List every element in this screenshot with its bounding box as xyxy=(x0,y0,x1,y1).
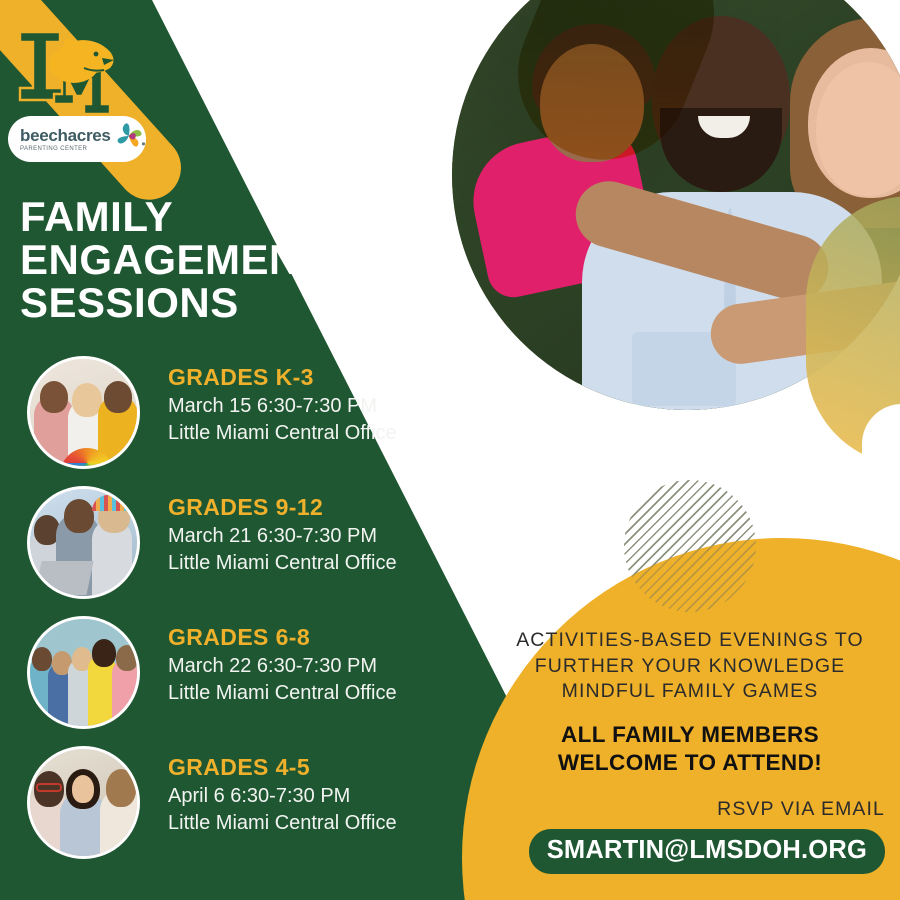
panel-cta-line-2: WELCOME TO ATTEND! xyxy=(558,750,822,775)
session-location: Little Miami Central Office xyxy=(168,682,397,705)
avatar-grades-k-3 xyxy=(27,356,140,469)
rsvp-label: RSVP VIA EMAIL xyxy=(495,798,885,821)
beech-acres-word1: beech xyxy=(20,126,68,145)
session-text: GRADES 9-12 March 21 6:30-7:30 PM Little… xyxy=(168,494,397,575)
sessions-list: GRADES K-3 March 15 6:30-7:30 PM Little … xyxy=(0,352,470,872)
beech-acres-logo: beechacres PARENTING CENTER xyxy=(8,116,146,162)
session-datetime: March 15 6:30-7:30 PM xyxy=(168,395,397,418)
beech-acres-word2: acres xyxy=(68,126,111,145)
avatar-grades-6-8 xyxy=(27,616,140,729)
session-grade-label: GRADES 4-5 xyxy=(168,754,397,781)
lm-wildcat-logo xyxy=(14,18,132,122)
session-text: GRADES K-3 March 15 6:30-7:30 PM Little … xyxy=(168,364,397,445)
session-item: GRADES 4-5 April 6 6:30-7:30 PM Little M… xyxy=(0,742,470,872)
info-panel: ACTIVITIES-BASED EVENINGS TO FURTHER YOU… xyxy=(495,628,885,874)
session-item: GRADES K-3 March 15 6:30-7:30 PM Little … xyxy=(0,352,470,482)
beech-acres-pinwheel-icon xyxy=(113,120,146,152)
panel-cta-line-1: ALL FAMILY MEMBERS xyxy=(561,722,819,747)
hatched-circle-overlay xyxy=(624,480,756,612)
session-datetime: March 22 6:30-7:30 PM xyxy=(168,655,397,678)
session-grade-label: GRADES 9-12 xyxy=(168,494,397,521)
session-datetime: March 21 6:30-7:30 PM xyxy=(168,525,397,548)
session-grade-label: GRADES 6-8 xyxy=(168,624,397,651)
beech-acres-tagline: PARENTING CENTER xyxy=(20,146,111,152)
poster-canvas: beechacres PARENTING CENTER FAMILY ENGAG… xyxy=(0,0,900,900)
panel-desc-line-3: MINDFUL FAMILY GAMES xyxy=(562,680,819,702)
headline-line-1: FAMILY xyxy=(20,196,326,239)
session-item: GRADES 6-8 March 22 6:30-7:30 PM Little … xyxy=(0,612,470,742)
panel-desc-line-2: FURTHER YOUR KNOWLEDGE xyxy=(535,655,846,677)
headline-line-2: ENGAGEMENT xyxy=(20,239,326,282)
session-location: Little Miami Central Office xyxy=(168,422,397,445)
avatar-photo xyxy=(30,489,137,596)
session-text: GRADES 6-8 March 22 6:30-7:30 PM Little … xyxy=(168,624,397,705)
session-location: Little Miami Central Office xyxy=(168,812,397,835)
headline-line-3: SESSIONS xyxy=(20,282,326,325)
session-text: GRADES 4-5 April 6 6:30-7:30 PM Little M… xyxy=(168,754,397,835)
panel-desc-line-1: ACTIVITIES-BASED EVENINGS TO xyxy=(516,629,864,651)
avatar-photo xyxy=(30,749,137,856)
avatar-photo xyxy=(30,359,137,466)
session-item: GRADES 9-12 March 21 6:30-7:30 PM Little… xyxy=(0,482,470,612)
rsvp-email-link[interactable]: SMARTIN@LMSDOH.ORG xyxy=(529,829,885,874)
avatar-grades-9-12 xyxy=(27,486,140,599)
avatar-grades-4-5 xyxy=(27,746,140,859)
wildcat-mascot xyxy=(49,38,114,83)
panel-cta: ALL FAMILY MEMBERS WELCOME TO ATTEND! xyxy=(495,721,885,776)
panel-description: ACTIVITIES-BASED EVENINGS TO FURTHER YOU… xyxy=(495,628,885,705)
avatar-photo xyxy=(30,619,137,726)
session-location: Little Miami Central Office xyxy=(168,552,397,575)
session-datetime: April 6 6:30-7:30 PM xyxy=(168,785,397,808)
session-grade-label: GRADES K-3 xyxy=(168,364,397,391)
page-title: FAMILY ENGAGEMENT SESSIONS xyxy=(20,196,326,324)
